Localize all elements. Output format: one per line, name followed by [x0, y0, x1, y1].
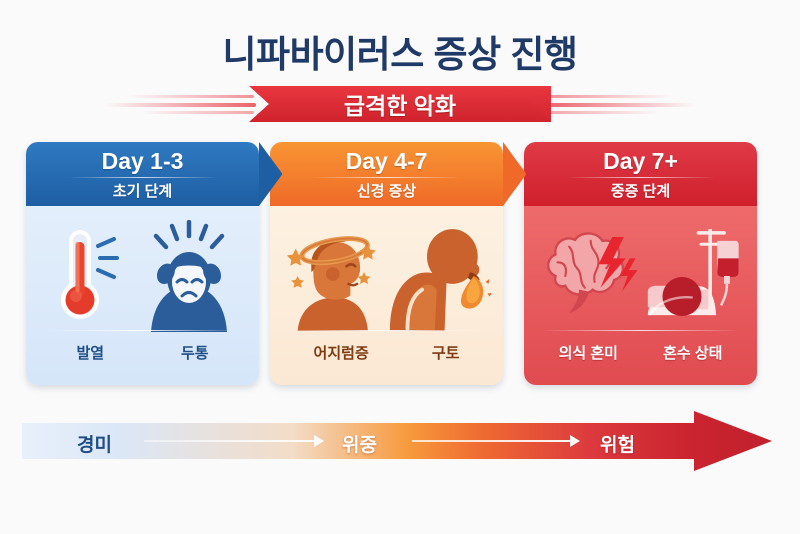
vomiting-icon	[384, 220, 491, 332]
icon-label-separator-2	[288, 330, 485, 331]
stage-day-label-3: Day 7+	[524, 148, 757, 175]
banner-ribbon: 급격한 악화	[0, 84, 800, 124]
symptom-label-coma: 혼수 상태	[663, 342, 722, 363]
stage-card-day-7-plus[interactable]: Day 7+ 중증 단계	[524, 142, 757, 385]
banner-ribbon-body: 급격한 악화	[249, 86, 551, 122]
severity-connector-arrow-2	[570, 435, 580, 447]
dizziness-icon	[282, 220, 384, 332]
stage-body-1: 발열 두통	[26, 206, 259, 385]
stage-card-row: Day 1-3 초기 단계	[0, 142, 800, 387]
stage-day-label-1: Day 1-3	[26, 148, 259, 175]
banner-label: 급격한 악화	[344, 87, 456, 121]
stage-header-3: Day 7+ 중증 단계	[524, 142, 757, 206]
stage-phase-label-1: 초기 단계	[26, 180, 259, 201]
severity-arrowhead	[694, 411, 772, 471]
header-divider-2	[312, 177, 462, 178]
headache-icon	[139, 220, 239, 332]
stage-phase-label-2: 신경 증상	[270, 180, 503, 201]
severity-scale-arrow: 경미 위중 위험	[22, 411, 752, 471]
severity-connector-1	[144, 440, 314, 442]
stage-header-1: Day 1-3 초기 단계	[26, 142, 259, 206]
icon-label-separator-1	[44, 330, 241, 331]
stage-chevron-2	[503, 142, 529, 206]
symptom-label-dizziness: 어지럼증	[314, 342, 369, 363]
stage-day-label-2: Day 4-7	[270, 148, 503, 175]
stage-body-2: 어지럼증 구토	[270, 206, 503, 385]
severity-label-critical: 위험	[600, 430, 635, 457]
icon-label-separator-3	[542, 330, 739, 331]
header-divider-1	[68, 177, 218, 178]
symptom-label-confusion: 의식 혼미	[559, 342, 618, 363]
severity-connector-arrow-1	[314, 435, 324, 447]
speed-line-left-3	[140, 111, 254, 114]
severity-connector-2	[412, 440, 570, 442]
page-title: 니파바이러스 증상 진행	[0, 24, 800, 78]
speed-line-right-1	[546, 95, 672, 98]
symptom-label-fever: 발열	[76, 342, 104, 363]
stage-card-day-4-7[interactable]: Day 4-7 신경 증상	[270, 142, 503, 385]
coma-iv-drip-icon	[640, 220, 745, 332]
header-divider-3	[566, 177, 716, 178]
speed-line-left-1	[128, 95, 254, 98]
symptom-label-headache: 두통	[181, 342, 209, 363]
stage-card-day-1-3[interactable]: Day 1-3 초기 단계	[26, 142, 259, 385]
severity-label-mild: 경미	[77, 430, 112, 457]
speed-line-left-2	[104, 103, 256, 107]
thermometer-icon	[46, 220, 124, 332]
stage-body-3: 의식 혼미 혼수 상태	[524, 206, 757, 385]
speed-line-right-2	[544, 103, 696, 107]
severity-label-severe: 위중	[342, 430, 377, 457]
infographic-canvas: 니파바이러스 증상 진행 급격한 악화 Day 1-3 초기 단계	[0, 0, 800, 534]
brain-lightning-icon	[536, 220, 640, 332]
stage-chevron-1	[259, 142, 285, 206]
stage-header-2: Day 4-7 신경 증상	[270, 142, 503, 206]
symptom-label-vomiting: 구토	[432, 342, 460, 363]
stage-phase-label-3: 중증 단계	[524, 180, 757, 201]
speed-line-right-3	[546, 111, 660, 114]
